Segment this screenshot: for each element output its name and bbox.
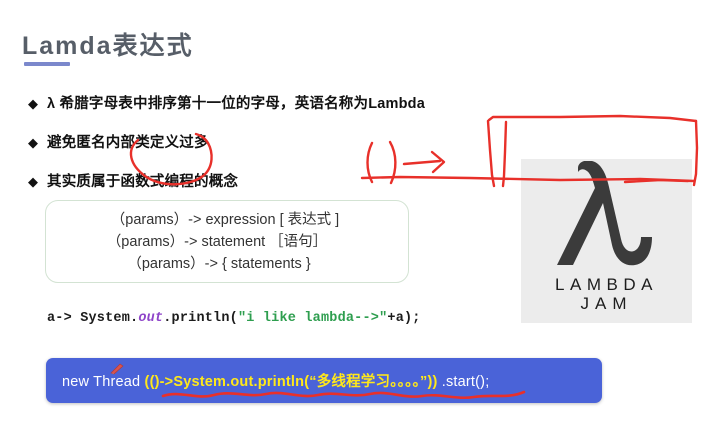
code-prefix: a-> System.: [47, 311, 138, 326]
syntax-line-statements-block: （params）-> { statements }: [46, 253, 408, 275]
blue-code-suffix: .start();: [438, 374, 490, 390]
bullet-text-2: 其实质属于函数式编程的概念: [47, 170, 238, 191]
ink-arrow-shaft: [404, 161, 440, 164]
title-underline-accent: [24, 62, 70, 66]
syntax-line-statement: （params）-> statement ［语句］: [46, 231, 408, 253]
code-string-literal: "i like lambda-->": [238, 311, 387, 326]
ink-right-paren: [390, 142, 395, 183]
slide-canvas: Lamda表达式 ◆ λ 希腊字母表中排序第十一位的字母，英语名称为Lambda…: [0, 0, 706, 438]
diamond-bullet-icon: ◆: [28, 97, 38, 110]
lambda-jam-wordmark: LAMBDA JAM: [521, 275, 692, 313]
diamond-bullet-icon: ◆: [28, 175, 38, 188]
ink-rect-left-outer: [488, 121, 494, 186]
highlighted-code-text: new Thread (()->System.out.println(“多线程学…: [46, 370, 489, 391]
highlighted-code-box: new Thread (()->System.out.println(“多线程学…: [46, 358, 602, 403]
syntax-line-expression: （params）-> expression [ 表达式 ]: [46, 209, 408, 231]
code-example-line: a-> System.out.println("i like lambda-->…: [47, 311, 421, 326]
code-middle: .println(: [163, 311, 238, 326]
ink-rect-top: [489, 116, 696, 121]
ink-arrow-head: [432, 152, 444, 172]
bullet-item-2: ◆ 其实质属于函数式编程的概念: [28, 170, 238, 191]
code-suffix: +a);: [387, 311, 420, 326]
ink-left-paren: [368, 143, 373, 182]
ink-rect-right: [694, 121, 697, 185]
bullet-item-0: ◆ λ 希腊字母表中排序第十一位的字母，英语名称为Lambda: [28, 92, 425, 113]
code-field-out: out: [138, 311, 163, 326]
bullet-item-1: ◆ 避免匿名内部类定义过多: [28, 131, 209, 152]
page-title: Lamda表达式: [22, 26, 194, 62]
wordmark-line-2: JAM: [521, 294, 692, 313]
blue-code-prefix: new Thread: [62, 374, 145, 390]
blue-code-highlight: (()->System.out.println(“多线程学习。。。。”)): [145, 374, 438, 390]
bullet-text-0: λ 希腊字母表中排序第十一位的字母，英语名称为Lambda: [47, 92, 425, 113]
lambda-syntax-box: （params）-> expression [ 表达式 ] （params）->…: [45, 200, 409, 283]
lambda-jam-logo: LAMBDA JAM: [521, 159, 692, 323]
ink-rect-left-inner: [503, 122, 506, 186]
bullet-text-1: 避免匿名内部类定义过多: [47, 131, 209, 152]
wordmark-line-1: LAMBDA: [555, 275, 658, 294]
lambda-symbol-icon: [521, 161, 692, 277]
diamond-bullet-icon: ◆: [28, 136, 38, 149]
